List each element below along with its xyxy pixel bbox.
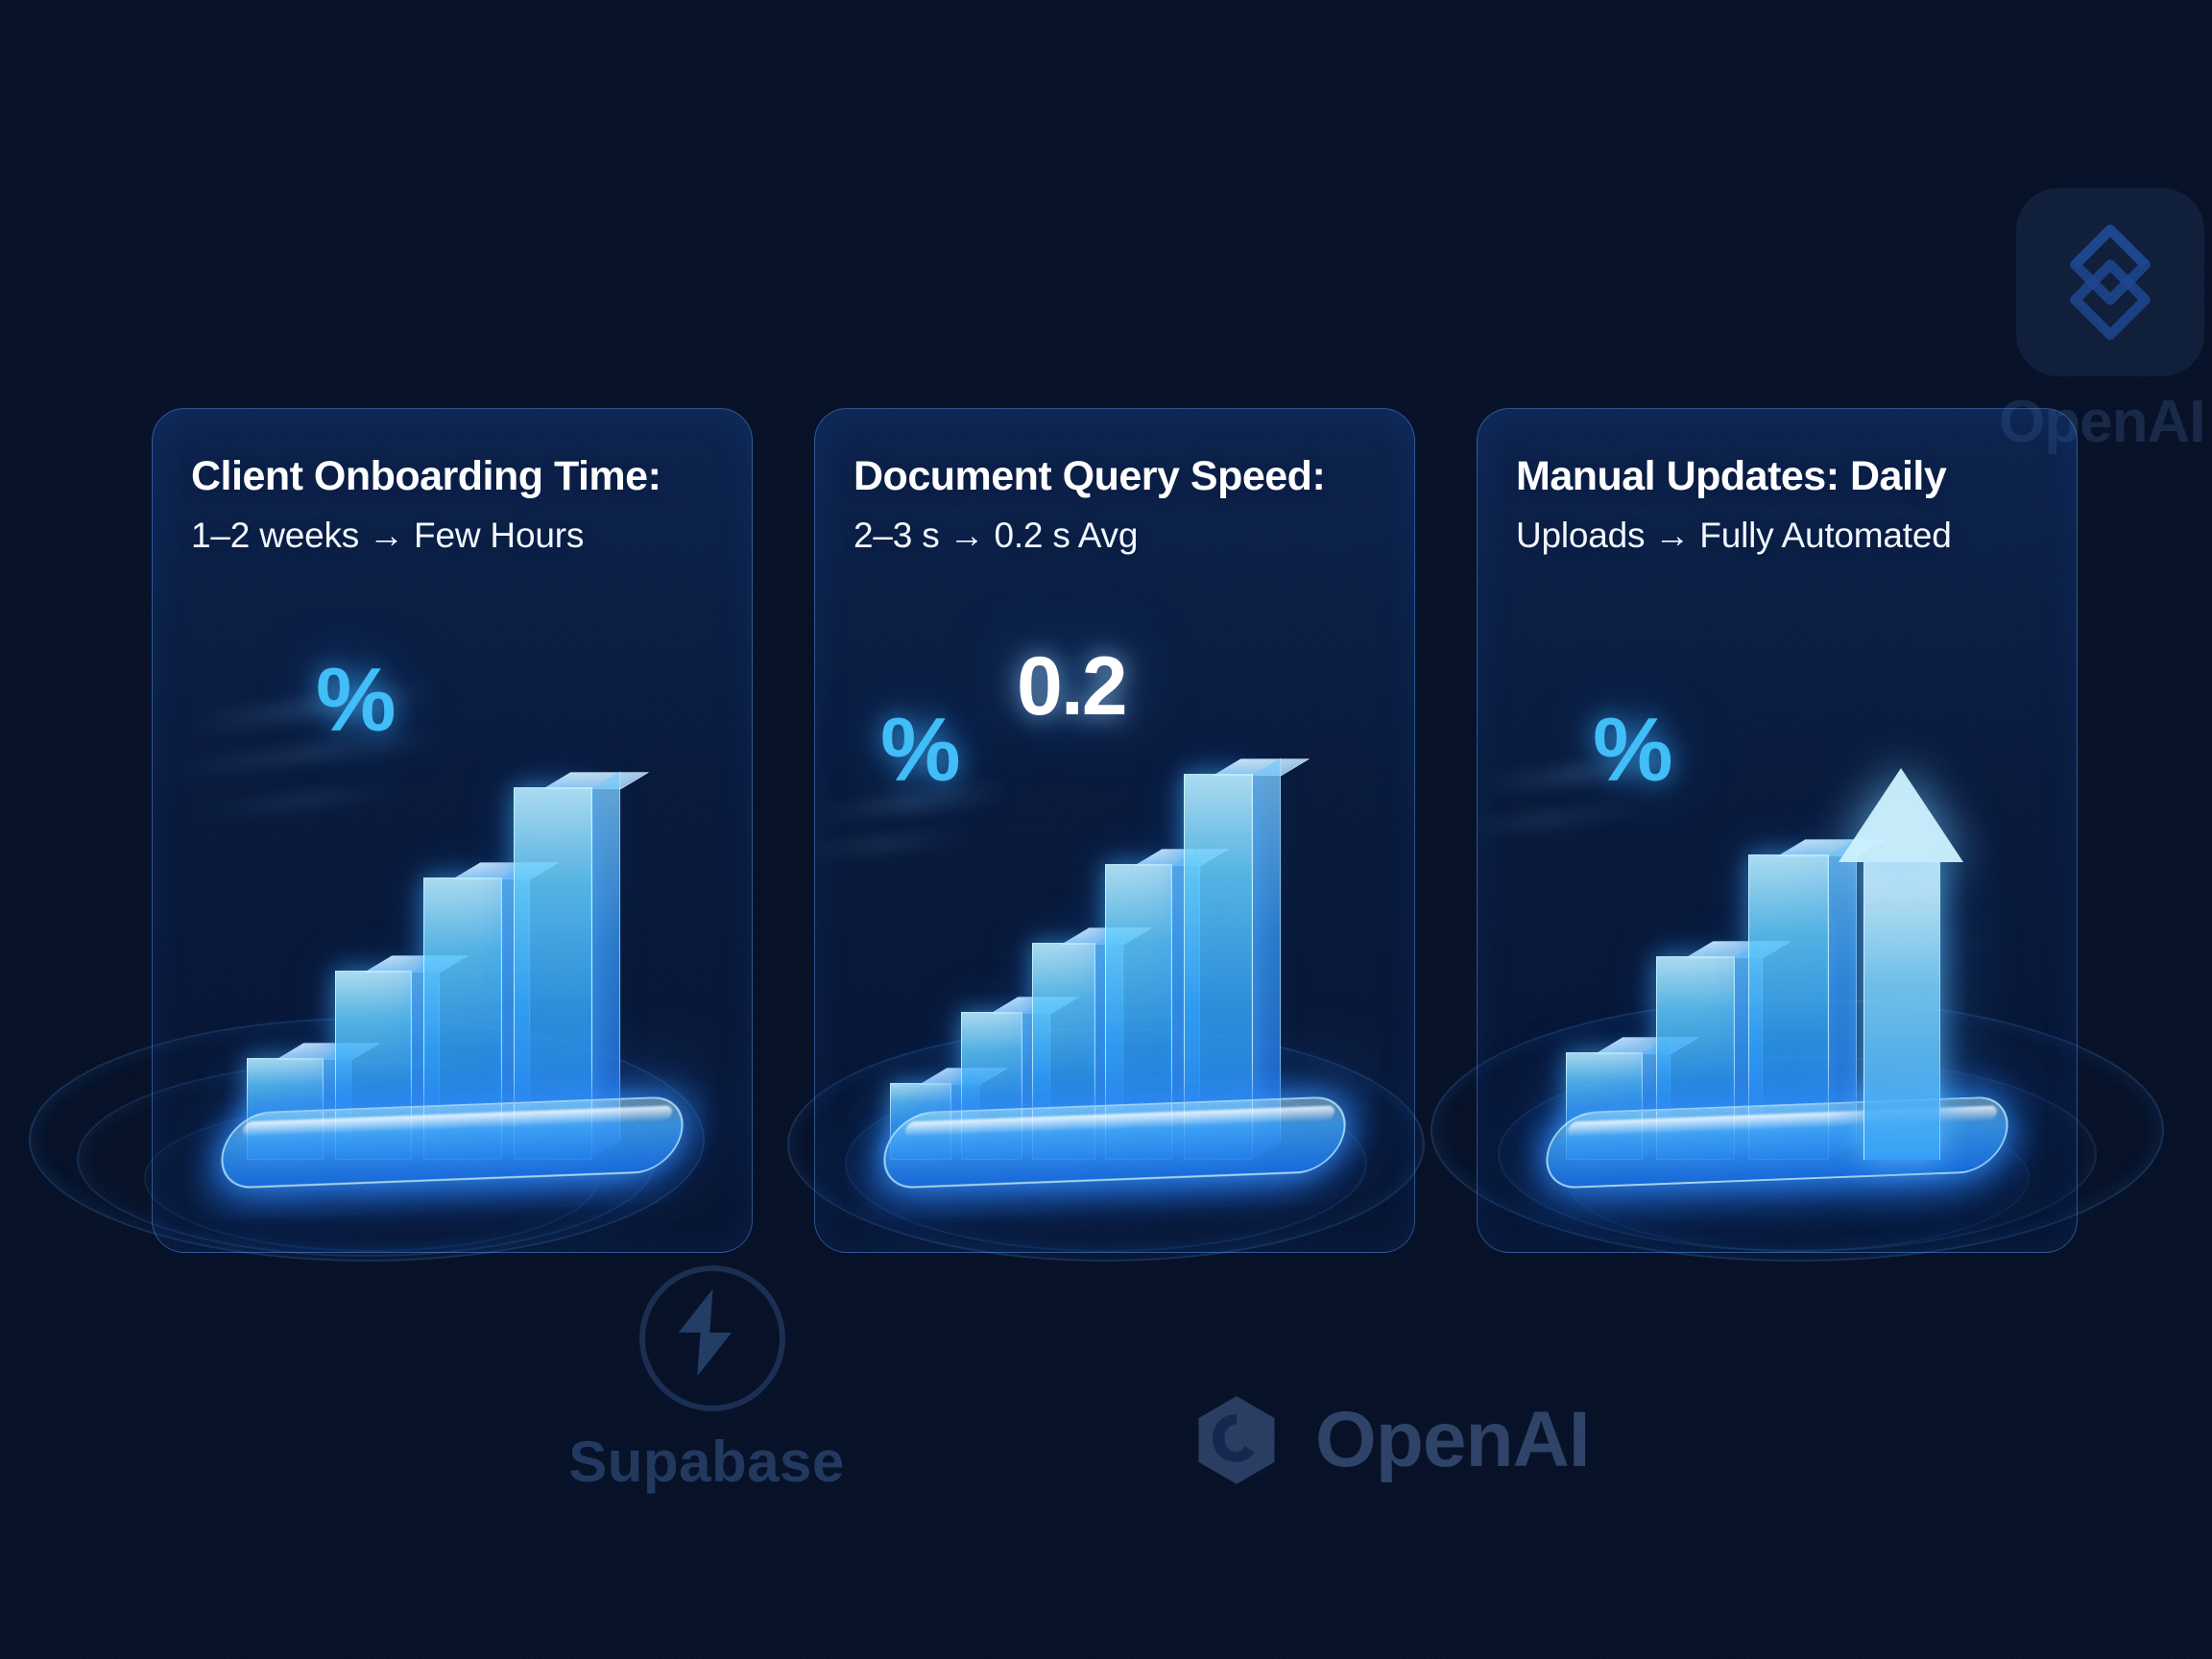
- up-arrow-icon: [1839, 862, 1963, 1160]
- card-title: Document Query Speed:: [854, 455, 1393, 498]
- card-subtitle: Uploads → Fully Automated: [1516, 517, 2059, 556]
- percent-label: %: [1593, 705, 1673, 795]
- metric-card-manual-updates[interactable]: Manual Updates: Daily Uploads → Fully Au…: [1477, 408, 2078, 1253]
- supabase-watermark: Supabase: [553, 1265, 860, 1525]
- percent-label: %: [316, 655, 397, 745]
- metric-card-client-onboarding[interactable]: Client Onboarding Time: 1–2 weeks → Few …: [152, 408, 753, 1253]
- openai-knot-icon: [2037, 209, 2183, 355]
- supabase-icon: [657, 1283, 757, 1382]
- card-subtitle: 2–3 s → 0.2 s Avg: [854, 517, 1397, 556]
- bar-chart-3d: %: [153, 637, 752, 1252]
- openai-bottom-label: OpenAI: [1315, 1395, 1590, 1485]
- openai-hex-icon: [1187, 1390, 1286, 1490]
- supabase-label: Supabase: [553, 1429, 860, 1495]
- metric-card-document-query-speed[interactable]: Document Query Speed: 2–3 s → 0.2 s Avg …: [814, 408, 1415, 1253]
- openai-bottom-watermark: OpenAI: [1187, 1382, 1590, 1498]
- bar-chart-3d: % 0.2: [815, 637, 1414, 1252]
- percent-label: %: [880, 705, 961, 795]
- value-label: 0.2: [1017, 645, 1126, 728]
- card-title: Manual Updates: Daily: [1516, 455, 2056, 498]
- bar-chart-3d: %: [1478, 637, 2077, 1252]
- card-subtitle: 1–2 weeks → Few Hours: [191, 517, 734, 556]
- infographic-canvas: OpenAI Supabase OpenAI Client Onboarding…: [0, 0, 2212, 1659]
- card-title: Client Onboarding Time:: [191, 455, 731, 498]
